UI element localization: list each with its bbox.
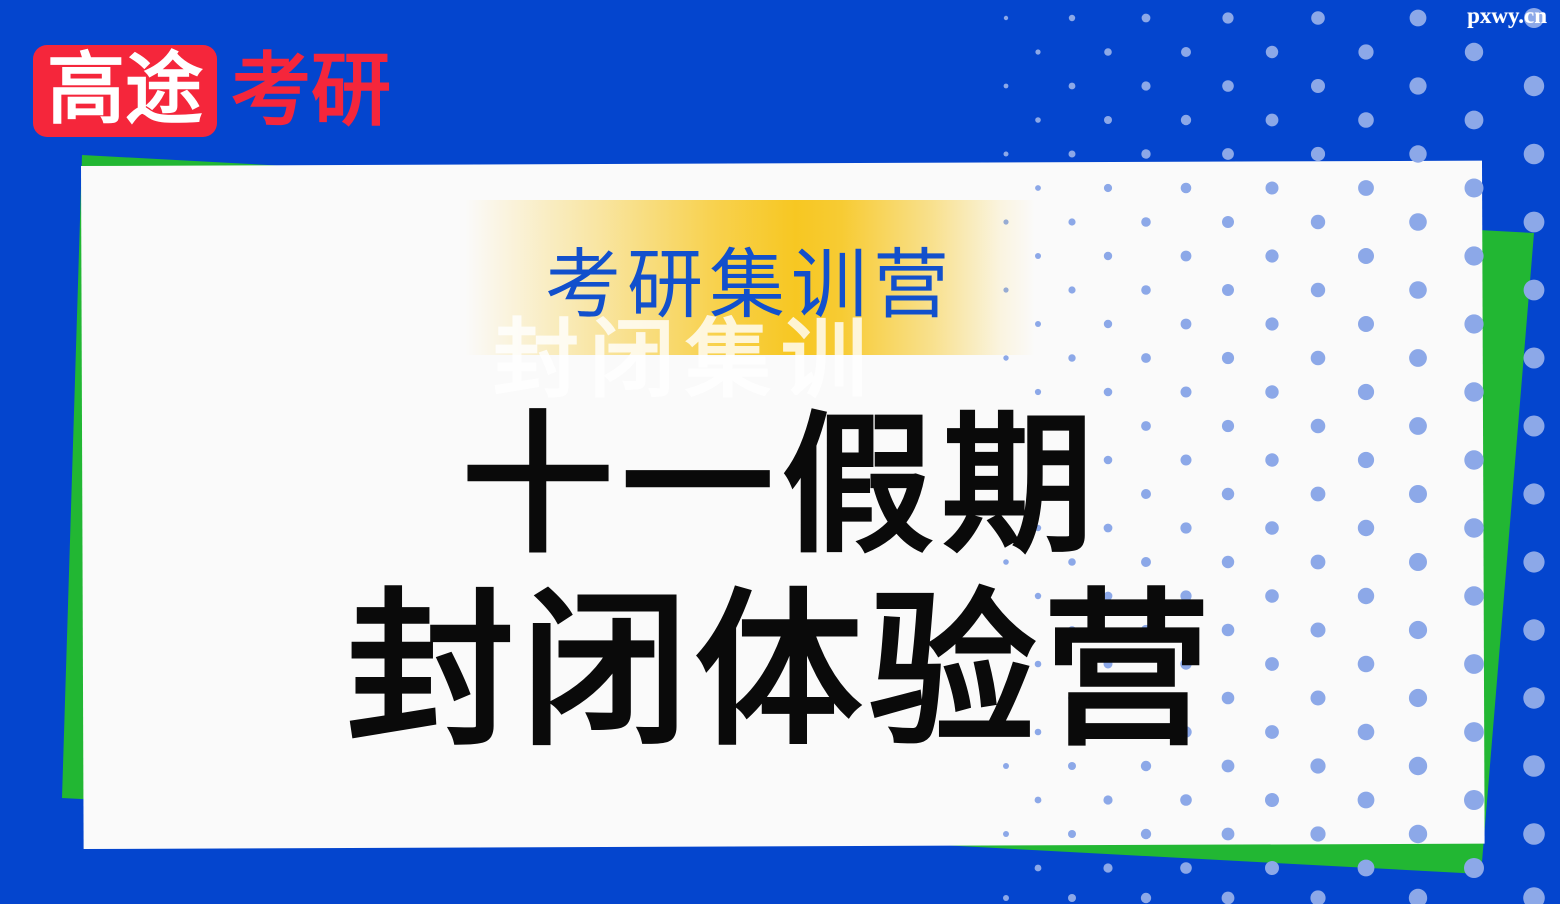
ghost-watermark-label: 封闭集训 xyxy=(465,296,1035,406)
brand-logo-badge: 高途 xyxy=(33,45,217,137)
brand-logo-word: 考研 xyxy=(231,53,391,129)
card-content: 封闭集训 考研集训营 十一假期 封闭体验营 xyxy=(81,166,1482,849)
brand-logo-badge-text: 高途 xyxy=(47,52,203,126)
headline-block: 十一假期 封闭体验营 xyxy=(81,398,1482,769)
poster-canvas: 封闭集训 考研集训营 十一假期 封闭体验营 xyxy=(0,0,1560,904)
headline-line-2: 封闭体验营 xyxy=(81,574,1482,769)
brand-logo: 高途 考研 xyxy=(33,45,391,137)
headline-line-1: 十一假期 xyxy=(81,398,1482,574)
site-watermark: pxwy.cn xyxy=(1467,3,1547,29)
